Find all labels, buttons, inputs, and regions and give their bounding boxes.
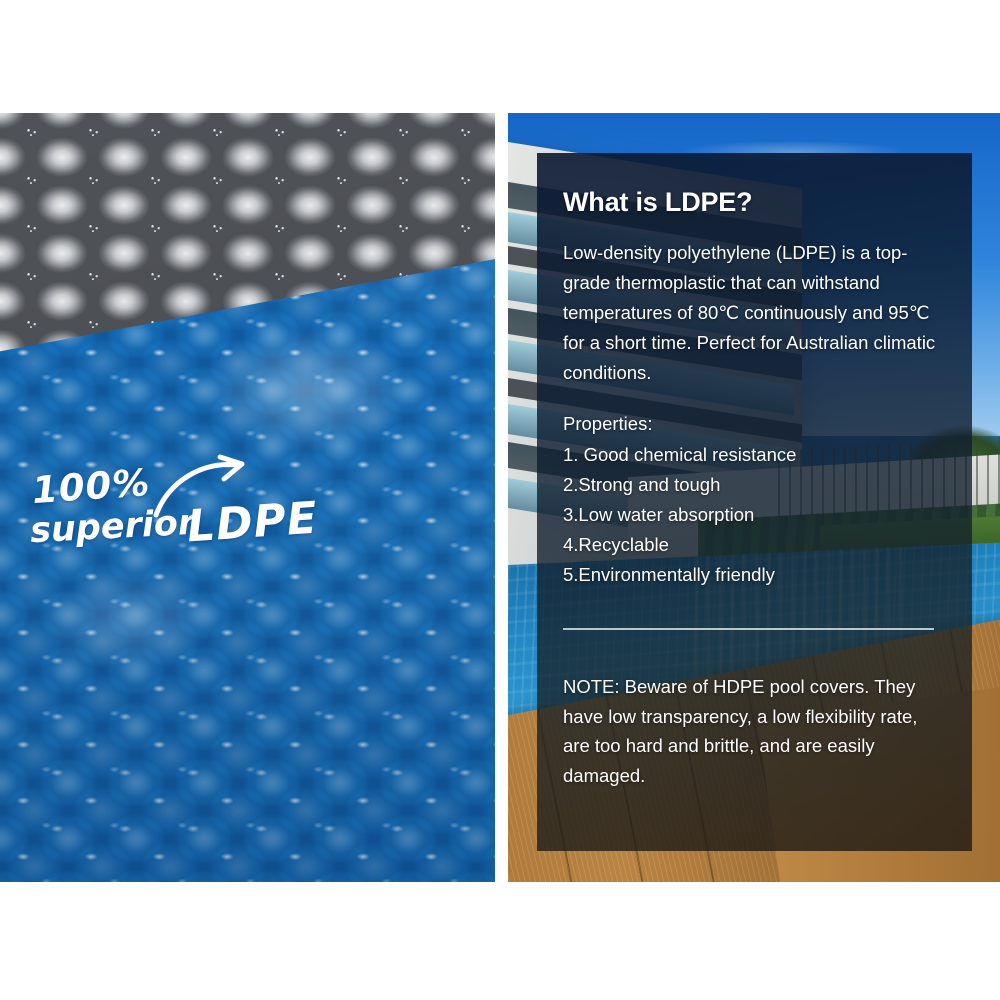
handwritten-ldpe: LDPE bbox=[185, 492, 319, 552]
list-item: 1. Good chemical resistance bbox=[563, 440, 948, 470]
list-item: 2.Strong and tough bbox=[563, 470, 948, 500]
list-item: 4.Recyclable bbox=[563, 530, 948, 560]
properties-list: 1. Good chemical resistance 2.Strong and… bbox=[563, 440, 948, 590]
card-paragraph: Low-density polyethylene (LDPE) is a top… bbox=[563, 238, 948, 388]
handwritten-superior: superior bbox=[29, 503, 196, 552]
note-text: NOTE: Beware of HDPE pool covers. They h… bbox=[563, 672, 948, 792]
card-title: What is LDPE? bbox=[563, 187, 948, 218]
right-image-panel: What is LDPE? Low-density polyethylene (… bbox=[508, 113, 1000, 882]
handwritten-callout: 100% superior LDPE bbox=[30, 465, 330, 565]
info-card: What is LDPE? Low-density polyethylene (… bbox=[537, 153, 972, 851]
list-item: 5.Environmentally friendly bbox=[563, 560, 948, 590]
handwritten-100-percent: 100% bbox=[31, 461, 152, 512]
product-infographic: 100% superior LDPE bbox=[0, 0, 1000, 1000]
properties-label: Properties: bbox=[563, 410, 948, 439]
card-divider bbox=[563, 628, 934, 630]
left-image-panel: 100% superior LDPE bbox=[0, 113, 495, 882]
list-item: 3.Low water absorption bbox=[563, 500, 948, 530]
